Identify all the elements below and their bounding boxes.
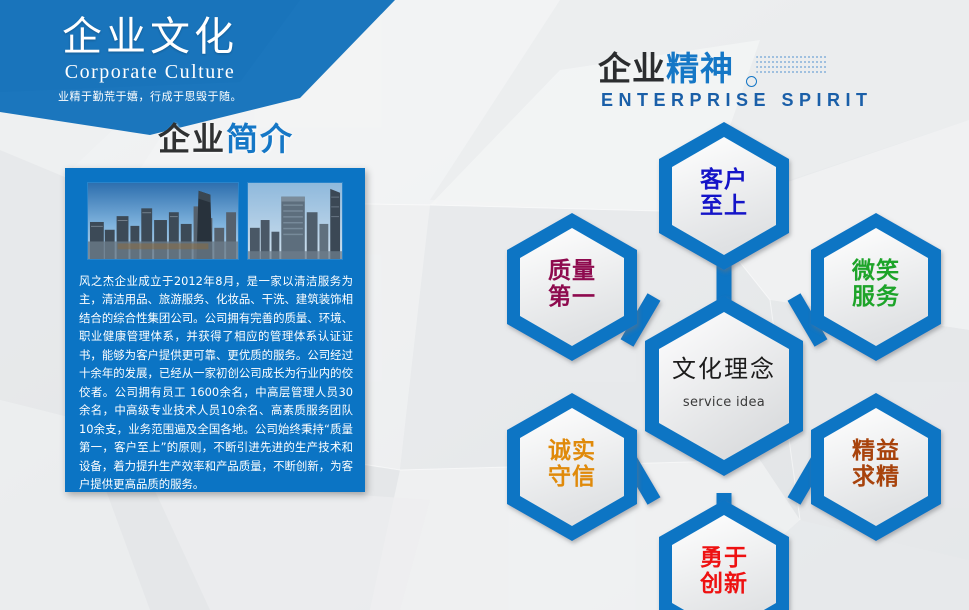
decorative-microtext: [756, 56, 828, 76]
intro-title-blue: 简介: [226, 120, 294, 158]
intro-title-dark: 企业: [158, 120, 226, 158]
spirit-title-dark: 企业: [598, 49, 666, 88]
microtext-line: [756, 66, 828, 68]
spirit-title: 企业精神: [598, 52, 873, 85]
company-intro-text: 风之杰企业成立于2012年8月，是一家以清洁服务为主，清洁用品、旅游服务、化妆品…: [79, 272, 353, 494]
spirit-subtitle-en: ENTERPRISE SPIRIT: [598, 90, 873, 111]
skyscraper-photo: [247, 182, 343, 260]
photo-gallery: [87, 182, 343, 260]
spirit-title-blue: 精神: [666, 49, 734, 88]
hexagon-graphics: [480, 100, 969, 610]
microtext-line: [756, 61, 828, 63]
enterprise-spirit-header: 企业精神 ENTERPRISE SPIRIT: [598, 52, 873, 111]
banner-title-en: Corporate Culture: [0, 61, 300, 84]
banner-title-cn: 企业文化: [0, 14, 300, 60]
microtext-line: [756, 56, 828, 58]
city-skyline-photo: [87, 182, 239, 260]
circle-decoration-icon: [746, 76, 757, 87]
banner-motto: 业精于勤荒于嬉，行成于思毁于随。: [0, 88, 300, 104]
microtext-line: [756, 71, 828, 73]
culture-hexagon-cluster: 文化理念 service idea 客户 至上 质量 第一 微笑 服务 诚实 守…: [480, 100, 969, 610]
company-intro-box: 风之杰企业成立于2012年8月，是一家以清洁服务为主，清洁用品、旅游服务、化妆品…: [65, 168, 365, 492]
intro-section-title: 企业简介: [158, 114, 294, 160]
